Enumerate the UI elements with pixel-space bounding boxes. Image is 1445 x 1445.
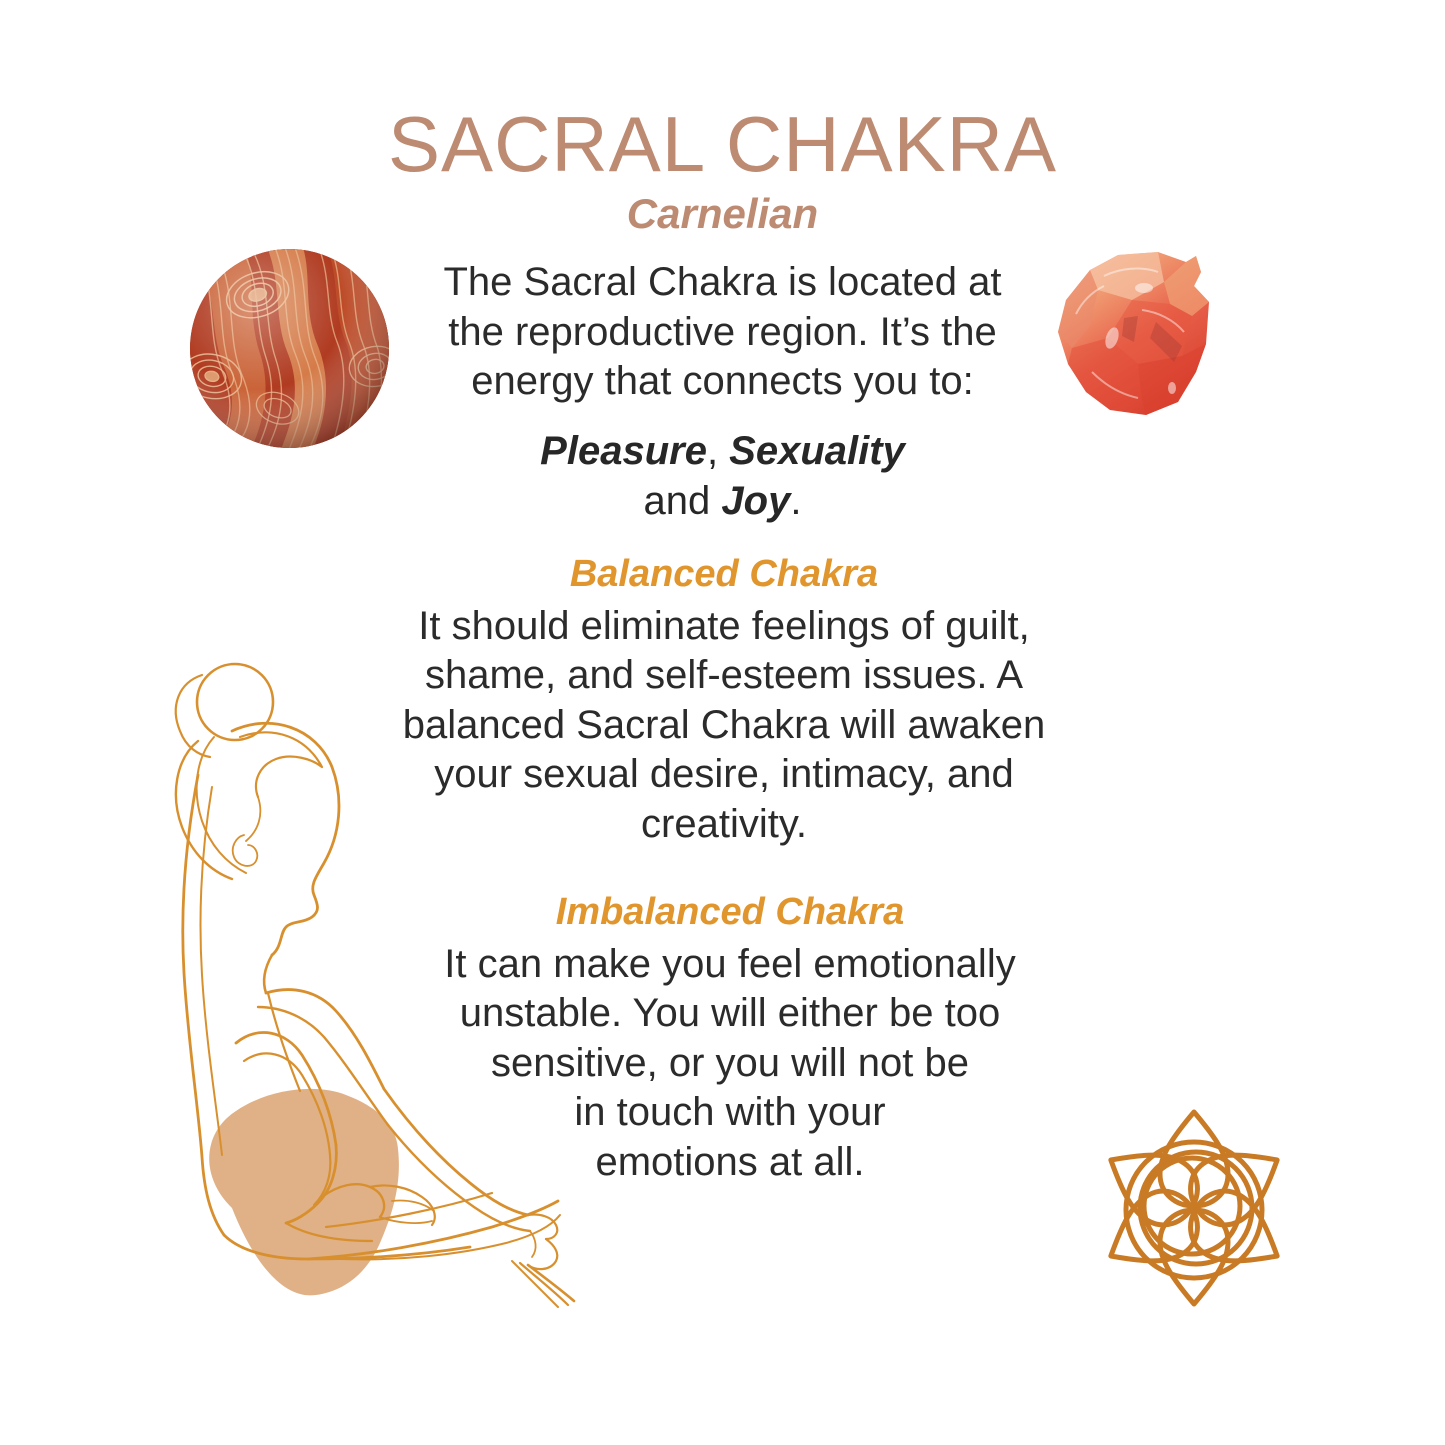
keyword-pleasure: Pleasure xyxy=(540,429,707,473)
intro-line-1: The Sacral Chakra is located at xyxy=(355,258,1090,308)
page-title: SACRAL CHAKRA xyxy=(0,104,1445,185)
keywords-line-1: Pleasure, Sexuality xyxy=(355,427,1090,477)
keyword-separator: , xyxy=(707,429,729,473)
sacral-energy-blob xyxy=(209,1089,399,1295)
crystal-graphic xyxy=(1046,252,1218,420)
keywords-block: Pleasure, Sexuality and Joy. xyxy=(355,427,1090,526)
balanced-line-1: It should eliminate feelings of guilt, xyxy=(350,602,1098,652)
chakra-infographic-page: SACRAL CHAKRA Carnelian xyxy=(0,0,1445,1445)
section-balanced-heading: Balanced Chakra xyxy=(350,552,1098,598)
keyword-joy: Joy xyxy=(721,479,790,523)
header-block: SACRAL CHAKRA Carnelian xyxy=(0,104,1445,237)
seated-yoga-woman-line-art xyxy=(140,655,610,1315)
svadhisthana-lotus-symbol xyxy=(1084,1098,1304,1318)
intro-paragraph: The Sacral Chakra is located at the repr… xyxy=(355,258,1090,407)
intro-line-2: the reproductive region. It’s the xyxy=(355,308,1090,358)
keyword-sexuality: Sexuality xyxy=(729,429,905,473)
lotus-graphic xyxy=(1084,1098,1304,1318)
intro-lines: The Sacral Chakra is located at the repr… xyxy=(355,258,1090,407)
page-subtitle: Carnelian xyxy=(0,191,1445,237)
intro-line-3: energy that connects you to: xyxy=(355,357,1090,407)
keyword-terminator: . xyxy=(790,479,801,523)
carnelian-raw-stone-image xyxy=(1046,252,1218,420)
keyword-conjunction: and xyxy=(644,479,722,523)
yoga-figure-graphic xyxy=(140,655,610,1315)
keywords-line-2: and Joy. xyxy=(355,477,1090,527)
